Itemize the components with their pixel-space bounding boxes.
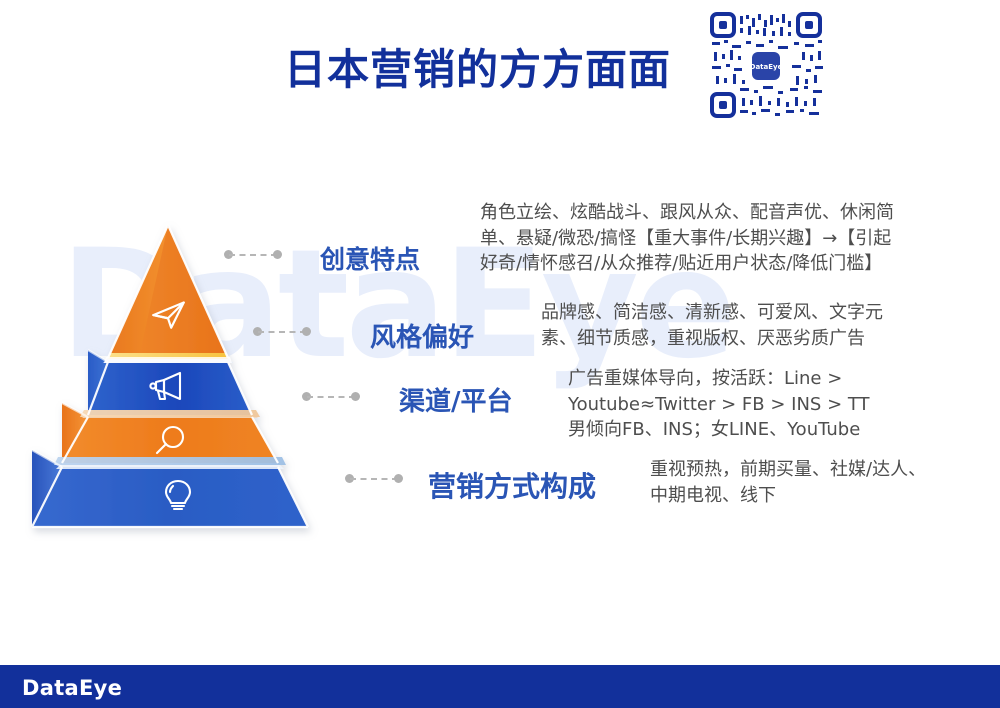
connector-dot-right: [302, 327, 311, 336]
pyramid-label-marketing: 营销方式构成: [428, 465, 596, 505]
pyramid-label-style: 风格偏好: [370, 317, 474, 354]
connector-line-1: [224, 250, 282, 259]
description-marketing: 重视预热，前期买量、社媒/达人、 中期电视、线下: [650, 457, 1000, 508]
qr-code[interactable]: DataEye: [706, 10, 826, 122]
description-creative: 角色立绘、炫酷战斗、跟风从众、配音声优、休闲简 单、悬疑/微恐/搞怪【重大事件/…: [480, 200, 995, 277]
description-style: 品牌感、简洁感、清新感、可爱风、文字元 素、细节质感，重视版权、厌恶劣质广告: [541, 300, 996, 351]
footer-bar: DataEye: [0, 665, 1000, 708]
connector-dash: [258, 331, 306, 333]
page-title: 日本营销的方方面面: [284, 36, 671, 97]
pyramid-layer-top: [104, 225, 232, 363]
description-channel: 广告重媒体导向，按活跃：Line > Youtube≈Twitter > FB …: [568, 366, 998, 443]
connector-dot-right: [273, 250, 282, 259]
pyramid-label-channel: 渠道/平台: [399, 381, 513, 418]
pyramid-label-creative: 创意特点: [320, 240, 420, 276]
connector-dot-right: [351, 392, 360, 401]
connector-dash: [350, 478, 398, 480]
connector-dot-right: [394, 474, 403, 483]
footer-logo-dataeye: DataEye: [22, 676, 122, 700]
connector-dash: [229, 254, 277, 256]
svg-text:DataEye: DataEye: [750, 63, 783, 71]
connector-line-4: [345, 474, 403, 483]
connector-line-3: [302, 392, 360, 401]
connector-line-2: [253, 327, 311, 336]
pyramid-diagram: [0, 205, 345, 540]
connector-dash: [307, 396, 355, 398]
slide-canvas: DataEye 日本营销的方方面面: [0, 0, 1000, 708]
